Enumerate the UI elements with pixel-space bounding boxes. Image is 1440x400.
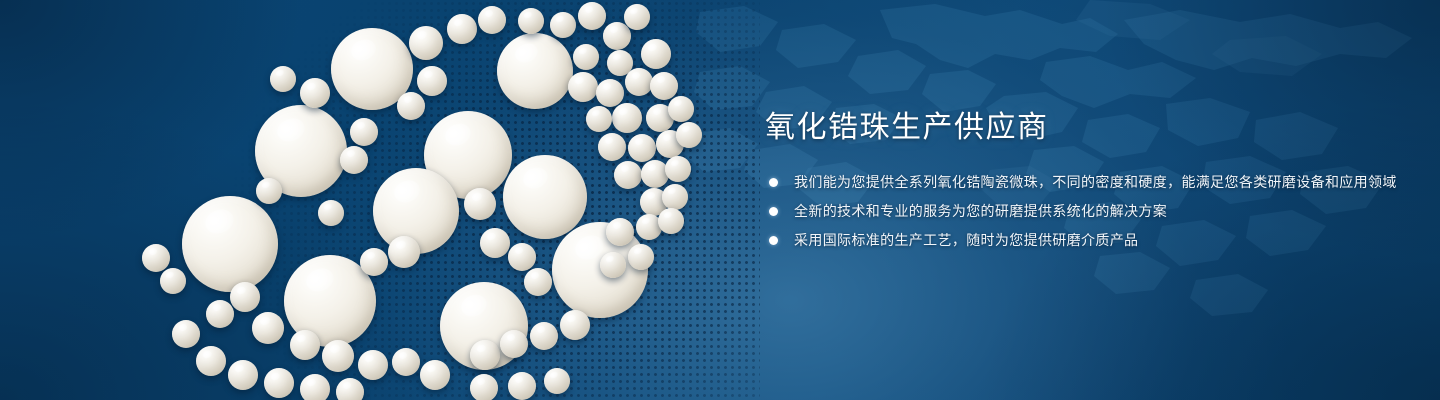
feature-list-item-text: 我们能为您提供全系列氧化锆陶瓷微珠，不同的密度和硬度，能满足您各类研磨设备和应用…	[794, 174, 1397, 190]
feature-list-item-text: 全新的技术和专业的服务为您的研磨提供系统化的解决方案	[794, 203, 1167, 219]
bullet-dot-icon	[769, 207, 778, 216]
feature-list-item: 全新的技术和专业的服务为您的研磨提供系统化的解决方案	[765, 199, 1405, 223]
bullet-dot-icon	[769, 178, 778, 187]
banner-feature-list: 我们能为您提供全系列氧化锆陶瓷微珠，不同的密度和硬度，能满足您各类研磨设备和应用…	[765, 170, 1405, 252]
feature-list-item: 采用国际标准的生产工艺，随时为您提供研磨介质产品	[765, 228, 1405, 252]
feature-list-item: 我们能为您提供全系列氧化锆陶瓷微珠，不同的密度和硬度，能满足您各类研磨设备和应用…	[765, 170, 1405, 194]
banner-text-block: 氧化锆珠生产供应商 我们能为您提供全系列氧化锆陶瓷微珠，不同的密度和硬度，能满足…	[765, 108, 1405, 252]
bullet-dot-icon	[769, 236, 778, 245]
hero-banner: 氧化锆珠生产供应商 我们能为您提供全系列氧化锆陶瓷微珠，不同的密度和硬度，能满足…	[0, 0, 1440, 400]
feature-list-item-text: 采用国际标准的生产工艺，随时为您提供研磨介质产品	[794, 232, 1138, 248]
banner-title: 氧化锆珠生产供应商	[765, 108, 1405, 148]
